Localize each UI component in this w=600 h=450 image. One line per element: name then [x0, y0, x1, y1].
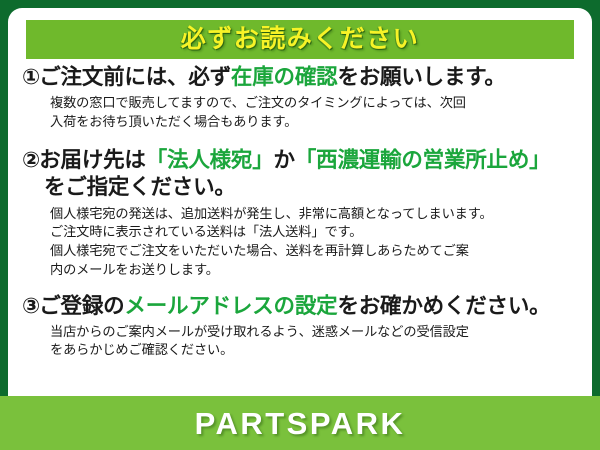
notice-item-2-marker: ② [22, 148, 39, 172]
notice-item-1-subtext: 複数の窓口で販売してますので、ご注文のタイミングによっては、次回 入荷をお待ち頂… [22, 94, 582, 131]
notice-item-2-subtext: 個人様宅宛の発送は、追加送料が発生し、非常に高額となってしまいます。 ご注文時に… [22, 205, 582, 280]
notice-item-2-subtext-line-3: 個人様宅宛でご注文をいただいた場合、送料を再計算しあらためてご案 [50, 242, 582, 261]
notice-item-1-marker: ① [22, 65, 39, 89]
notice-item-1-subtext-line-1: 複数の窓口で販売してますので、ご注文のタイミングによっては、次回 [50, 94, 582, 113]
notice-item-2-heading-highlight-1: 「法人様宛」 [146, 148, 274, 172]
notice-item-2-heading-highlight-2: 「西濃運輸の営業所止め」 [295, 148, 551, 172]
notice-item-2-heading-part-3: か [274, 148, 295, 172]
notice-item-3-marker: ③ [22, 294, 39, 318]
notice-body: ①ご注文前には、必ず在庫の確認をお願いします。 複数の窓口で販売してますので、ご… [8, 64, 592, 362]
notice-item-2-heading-line-2: をご指定ください。 [22, 174, 582, 201]
notice-item-2: ②お届け先は「法人様宛」か「西濃運輸の営業所止め」 をご指定ください。 個人様宅… [22, 147, 582, 280]
notice-item-2-heading: ②お届け先は「法人様宛」か「西濃運輸の営業所止め」 をご指定ください。 [22, 147, 582, 201]
notice-item-3: ③ご登録のメールアドレスの設定をお確かめください。 当店からのご案内メールが受け… [22, 293, 582, 361]
notice-item-3-subtext-line-2: をあらかじめご確認ください。 [50, 341, 582, 360]
notice-item-1-heading-part-3: をお願いします。 [337, 65, 505, 89]
header-band: 必ずお読みください [26, 20, 574, 59]
notice-item-1-heading-part-1: ご注文前には、必ず [39, 65, 231, 89]
notice-item-2-subtext-line-1: 個人様宅宛の発送は、追加送料が発生し、非常に高額となってしまいます。 [50, 205, 582, 224]
notice-item-1-heading: ①ご注文前には、必ず在庫の確認をお願いします。 [22, 64, 582, 91]
notice-item-2-subtext-line-2: ご注文時に表示されている送料は「法人送料」です。 [50, 223, 582, 242]
notice-item-3-subtext: 当店からのご案内メールが受け取れるよう、迷惑メールなどの受信設定 をあらかじめご… [22, 323, 582, 360]
notice-item-2-heading-part-1: お届け先は [39, 148, 146, 172]
footer-band: PARTSPARK [0, 396, 600, 450]
notice-item-2-subtext-line-4: 内のメールをお送りします。 [50, 261, 582, 280]
page-title: 必ずお読みください [181, 27, 420, 52]
notice-item-1-heading-highlight: 在庫の確認 [231, 65, 338, 89]
notice-item-3-heading-part-3: をお確かめください。 [337, 294, 550, 318]
notice-item-1-subtext-line-2: 入荷をお待ち頂いただく場合もあります。 [50, 113, 582, 132]
notice-item-3-subtext-line-1: 当店からのご案内メールが受け取れるよう、迷惑メールなどの受信設定 [50, 323, 582, 342]
notice-item-3-heading: ③ご登録のメールアドレスの設定をお確かめください。 [22, 293, 582, 320]
notice-item-3-heading-highlight: メールアドレスの設定 [124, 294, 337, 318]
notice-card: 必ずお読みください ①ご注文前には、必ず在庫の確認をお願いします。 複数の窓口で… [8, 8, 592, 400]
notice-banner: 必ずお読みください ①ご注文前には、必ず在庫の確認をお願いします。 複数の窓口で… [0, 0, 600, 450]
notice-item-1: ①ご注文前には、必ず在庫の確認をお願いします。 複数の窓口で販売してますので、ご… [22, 64, 582, 132]
brand-logo: PARTSPARK [195, 408, 406, 439]
notice-item-3-heading-part-1: ご登録の [39, 294, 124, 318]
